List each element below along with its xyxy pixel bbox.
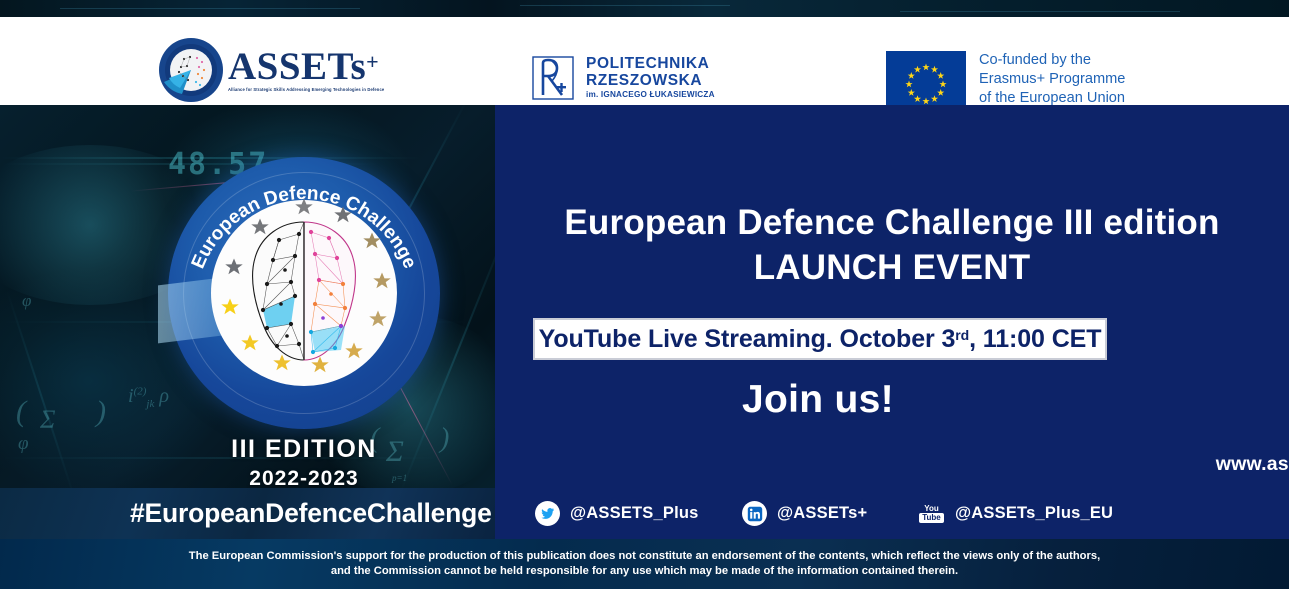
- edition-years: 2022-2023: [168, 467, 440, 488]
- linkedin-icon[interactable]: [742, 501, 767, 526]
- event-headline: European Defence Challenge III edition L…: [509, 200, 1275, 290]
- eu-disclaimer: The European Commission's support for th…: [0, 539, 1289, 589]
- youtube-handle[interactable]: @ASSETs_Plus_EU: [955, 504, 1113, 523]
- assets-wordmark: ASSETs+: [228, 48, 384, 85]
- twitter-icon[interactable]: [535, 501, 560, 526]
- assets-tagline: Alliance for Strategic Skills Addressing…: [228, 87, 384, 92]
- eu-cofunding-logo: Co-funded by the Erasmus+ Programme of t…: [886, 51, 1125, 107]
- streaming-info-box: YouTube Live Streaming. October 3rd, 11:…: [533, 318, 1107, 360]
- streaming-ordinal: rd: [955, 327, 969, 343]
- eu-line2: Erasmus+ Programme: [979, 70, 1125, 89]
- linkedin-handle[interactable]: @ASSETs+: [777, 504, 867, 523]
- politechnika-line3: im. IGNACEGO ŁUKASIEWICZA: [586, 91, 715, 100]
- assets-brain-pie-logo-icon: [150, 37, 232, 103]
- join-us-text: Join us!: [635, 378, 1001, 422]
- politechnika-rzeszowska-emblem-icon: [530, 55, 576, 101]
- politechnika-rzeszowska-logo: POLITECHNIKA RZESZOWSKA im. IGNACEGO ŁUK…: [530, 55, 715, 101]
- disclaimer-line2: and the Commission cannot be held respon…: [331, 564, 958, 579]
- eu-cofunding-text: Co-funded by the Erasmus+ Programme of t…: [979, 51, 1125, 107]
- logo-header-bar: ASSETs+ Alliance for Strategic Skills Ad…: [0, 17, 1289, 105]
- social-media-bar: #EuropeanDefenceChallenge @ASSETS_Plus @…: [0, 488, 1289, 539]
- youtube-account[interactable]: You Tube @ASSETs_Plus_EU: [918, 488, 1113, 539]
- left-tech-background-panel: 48.57 58 1948 i(2)jk ρ φ φ Σ Σ p=1 ( ) (…: [0, 105, 495, 488]
- twitter-handle[interactable]: @ASSETS_Plus: [570, 504, 699, 523]
- european-defence-challenge-badge: European Defence Challenge: [168, 157, 440, 429]
- eu-line1: Co-funded by the: [979, 51, 1125, 70]
- poster-canvas: ASSETs+ Alliance for Strategic Skills Ad…: [0, 0, 1289, 589]
- youtube-icon-tube: Tube: [919, 513, 944, 523]
- top-decorative-strip: [0, 0, 1289, 17]
- badge-eu-stars: [168, 157, 440, 429]
- campaign-hashtag: #EuropeanDefenceChallenge: [130, 488, 492, 539]
- twitter-account[interactable]: @ASSETS_Plus: [535, 488, 699, 539]
- streaming-prefix: YouTube Live Streaming. October 3: [539, 325, 956, 353]
- assets-name: ASSETs: [228, 45, 366, 88]
- edition-number: III EDITION: [168, 435, 440, 464]
- right-info-panel: European Defence Challenge III edition L…: [495, 105, 1289, 488]
- assets-plus-logo: ASSETs+ Alliance for Strategic Skills Ad…: [150, 37, 520, 103]
- politechnika-line2: RZESZOWSKA: [586, 73, 715, 89]
- linkedin-account[interactable]: @ASSETs+: [742, 488, 867, 539]
- youtube-icon[interactable]: You Tube: [918, 502, 945, 526]
- main-content: 48.57 58 1948 i(2)jk ρ φ φ Σ Σ p=1 ( ) (…: [0, 105, 1289, 488]
- youtube-icon-you: You: [924, 504, 939, 513]
- assets-plus-sign: +: [366, 49, 379, 74]
- streaming-suffix: , 11:00 CET: [969, 325, 1101, 353]
- disclaimer-line1: The European Commission's support for th…: [189, 549, 1100, 564]
- politechnika-line1: POLITECHNIKA: [586, 56, 715, 72]
- eu-flag-icon: [886, 51, 966, 105]
- streaming-info-text: YouTube Live Streaming. October 3rd, 11:…: [539, 325, 1102, 354]
- edition-caption: III EDITION 2022-2023: [168, 435, 440, 488]
- website-url[interactable]: www.assets-plus.eu: [735, 453, 1289, 476]
- headline-line1: European Defence Challenge III edition: [509, 200, 1275, 245]
- headline-line2: LAUNCH EVENT: [509, 245, 1275, 290]
